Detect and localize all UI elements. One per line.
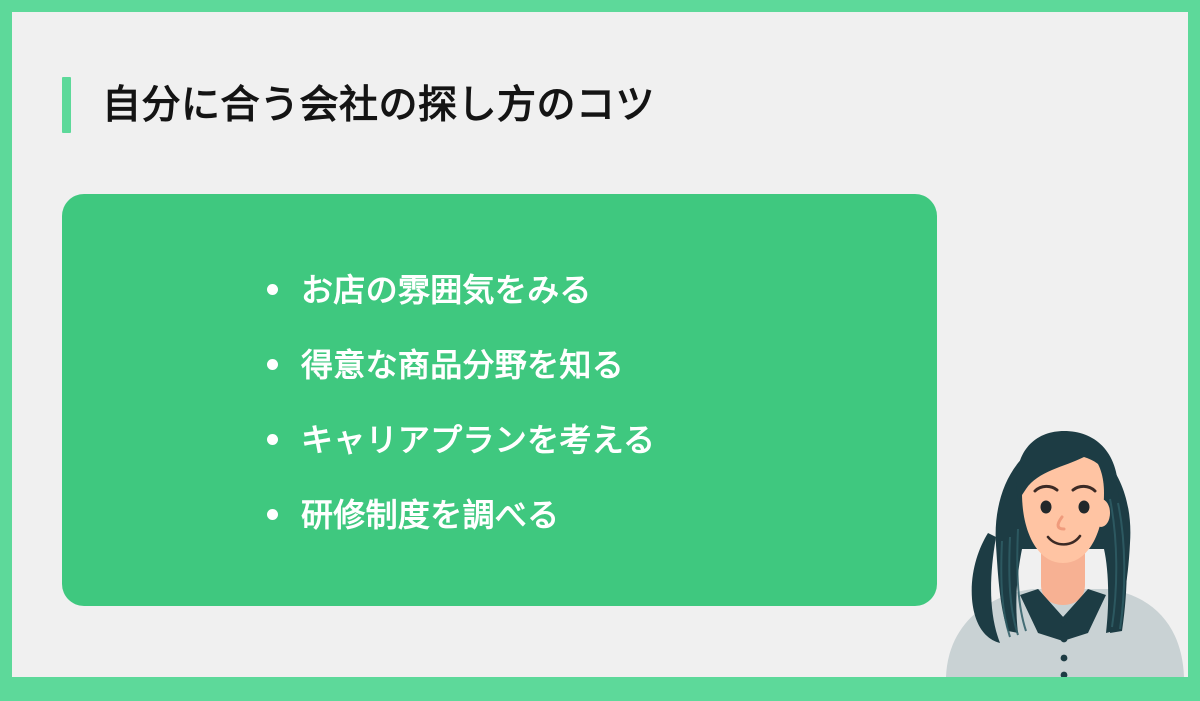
slide-canvas: 自分に合う会社の探し方のコツ お店の雰囲気をみる 得意な商品分野を知る キャリア… (12, 12, 1188, 677)
list-item-label: 得意な商品分野を知る (301, 349, 624, 381)
list-item-label: お店の雰囲気をみる (301, 274, 592, 306)
page-title: 自分に合う会社の探し方のコツ (62, 74, 655, 136)
list-item: キャリアプランを考える (267, 402, 655, 477)
shirt-button (1061, 655, 1068, 662)
bullet-dot-icon (267, 509, 278, 520)
tips-card: お店の雰囲気をみる 得意な商品分野を知る キャリアプランを考える 研修制度を調べ… (62, 194, 937, 606)
page-title-text: 自分に合う会社の探し方のコツ (102, 86, 655, 125)
eye-left (1041, 501, 1052, 514)
bullet-dot-icon (267, 434, 278, 445)
eye-right (1079, 501, 1090, 514)
bullet-dot-icon (267, 359, 278, 370)
woman-illustration-svg (938, 417, 1188, 677)
list-item-label: キャリアプランを考える (301, 424, 655, 456)
slide-root: 自分に合う会社の探し方のコツ お店の雰囲気をみる 得意な商品分野を知る キャリア… (0, 0, 1200, 701)
smiling-woman-illustration (938, 417, 1188, 677)
list-item: 研修制度を調べる (267, 477, 655, 552)
bullet-dot-icon (267, 284, 278, 295)
title-accent-bar (62, 77, 71, 133)
shirt-button (1061, 636, 1068, 643)
list-item: お店の雰囲気をみる (267, 252, 655, 327)
shirt-button (1061, 617, 1068, 624)
tips-bullet-list: お店の雰囲気をみる 得意な商品分野を知る キャリアプランを考える 研修制度を調べ… (267, 252, 655, 552)
list-item: 得意な商品分野を知る (267, 327, 655, 402)
list-item-label: 研修制度を調べる (301, 499, 559, 531)
